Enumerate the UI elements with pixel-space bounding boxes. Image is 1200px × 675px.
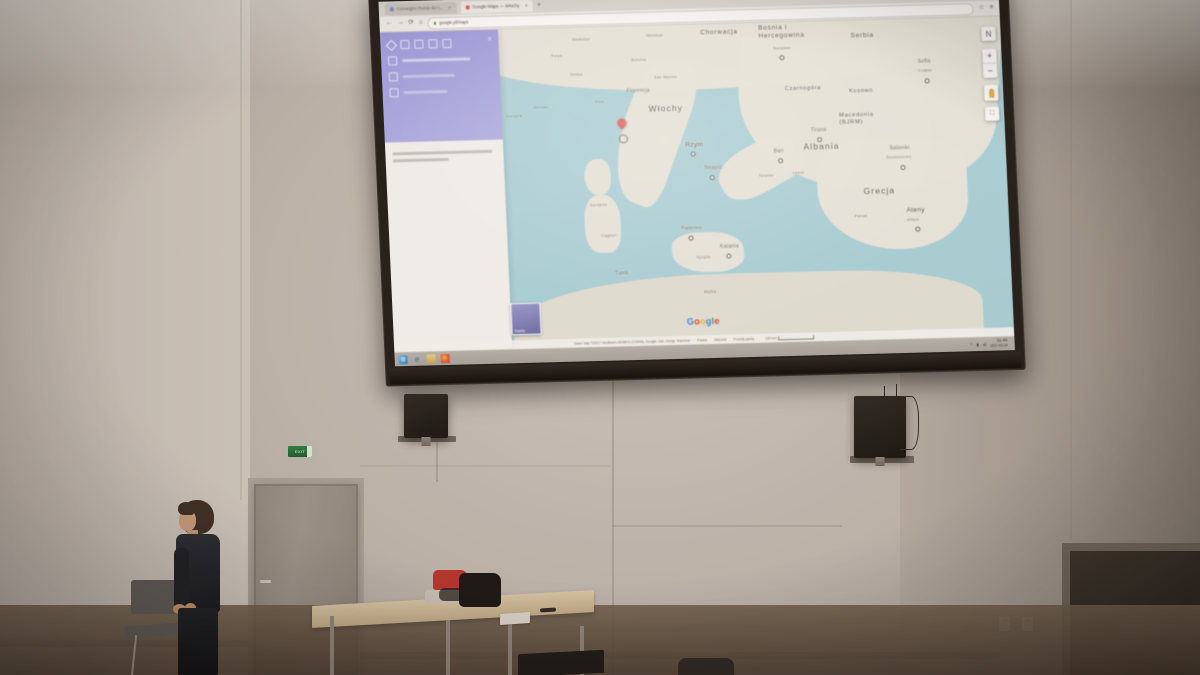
map-label-city: San Marino xyxy=(654,75,677,80)
satellite-thumbnail-label: Satelita xyxy=(514,328,525,332)
map-label-city: Monako xyxy=(533,105,548,109)
speaker-cable xyxy=(884,386,889,400)
edge-icon[interactable]: e xyxy=(412,354,421,363)
map-label-city: Mediolan xyxy=(572,37,590,41)
left-speaker xyxy=(404,394,448,438)
backpack-black-part xyxy=(459,573,501,607)
map-label-country: Chorwacja xyxy=(700,28,738,36)
table-leg xyxy=(508,622,512,675)
map-label-city: Katania xyxy=(720,243,739,249)
projected-desktop: Convegno Roma dei t... ✕ Google Maps — W… xyxy=(378,0,1014,366)
maps-panel-line-1 xyxy=(388,54,492,66)
map-label-country: Macedonia (BJRM) xyxy=(839,111,892,126)
fullscreen-button[interactable]: ⛶ xyxy=(985,107,1000,121)
city-dot xyxy=(778,158,783,163)
presenter xyxy=(168,500,230,675)
wall-joint-3 xyxy=(1070,0,1072,540)
notebook xyxy=(500,612,530,625)
city-dot xyxy=(817,137,822,142)
speaker-cable xyxy=(896,384,901,400)
map-scale-label: 200 km xyxy=(765,336,776,340)
table-leg xyxy=(446,620,450,675)
volume-icon[interactable]: ◂) xyxy=(983,341,987,346)
map-label-city: Sarajewo xyxy=(773,46,791,50)
emergency-exit-sign: EXIT xyxy=(288,446,312,457)
reload-icon[interactable]: ⟳ xyxy=(408,20,414,27)
map-label-city: Cagliari xyxy=(601,234,616,238)
new-tab-button[interactable]: + xyxy=(537,1,541,8)
map-label-country: Bośnia i Hercegowina xyxy=(758,23,825,40)
map-label-country: Czarnogóra xyxy=(785,85,822,92)
close-icon[interactable]: ✕ xyxy=(487,36,492,43)
maps-panel-note xyxy=(392,150,497,167)
map-label-city: Florencja xyxy=(627,88,651,95)
compass-button[interactable]: N xyxy=(981,27,996,41)
firefox-icon[interactable]: ◉ xyxy=(440,353,449,362)
city-dot xyxy=(924,78,929,83)
star-icon[interactable]: ☆ xyxy=(979,5,985,12)
city-dot xyxy=(900,165,905,170)
file-explorer-icon[interactable]: ▤ xyxy=(426,354,435,363)
map-label-country: Grecja xyxy=(863,185,895,196)
map-label-city: Ateny xyxy=(906,206,925,213)
map-label-city: Marsylia xyxy=(506,114,523,118)
land-corsica xyxy=(584,159,612,196)
tab-favicon xyxy=(465,5,469,9)
map-label-city: Tunis xyxy=(615,270,629,276)
browser-tab-1-label: Convegno Roma dei t... xyxy=(397,5,443,11)
chair-leg xyxy=(131,635,137,675)
map-label-city: Lecce xyxy=(793,171,805,175)
projection-screen: Convegno Roma dei t... ✕ Google Maps — W… xyxy=(368,0,1026,387)
city-dot xyxy=(688,236,693,241)
map-label-city: Tirana xyxy=(811,127,827,133)
menu-icon[interactable]: ≡ xyxy=(989,5,993,12)
clock-date: 2017-03-24 xyxy=(990,343,1008,347)
city-dot xyxy=(710,175,715,180)
presenter-arm xyxy=(174,548,189,610)
logo-e: e xyxy=(714,316,720,326)
map-label-city: Bari xyxy=(774,148,784,154)
directions-icon xyxy=(389,72,398,81)
map-label-country: Malta xyxy=(704,289,716,294)
presenter-hair-front xyxy=(178,502,194,515)
map-scale: 200 km xyxy=(765,335,814,340)
address-bar-value: google.pl/maps xyxy=(439,19,468,25)
maps-search-card[interactable]: ✕ xyxy=(380,30,503,143)
table-leg xyxy=(330,616,334,675)
lecture-room: Convegno Roma dei t... ✕ Google Maps — W… xyxy=(0,0,1200,675)
exit-sign-label: EXIT xyxy=(295,449,305,454)
network-icon[interactable]: ▮ xyxy=(976,342,979,347)
map-label-country: Kosowo xyxy=(849,88,873,95)
maps-side-panel[interactable]: ✕ xyxy=(380,30,512,353)
close-icon[interactable]: ✕ xyxy=(448,5,452,10)
map-label-region: Sardynia xyxy=(590,203,608,207)
map-label-city: Bolonia xyxy=(631,58,646,62)
layers-icon xyxy=(414,40,423,49)
map-label-city: Genua xyxy=(570,72,583,76)
compass-icon: N xyxy=(985,29,991,38)
maps-panel-line-3 xyxy=(389,86,493,98)
lock-icon: ▮ xyxy=(434,20,437,25)
map-label-city: Turyn xyxy=(551,54,562,58)
map-label-city: Neapol xyxy=(704,165,722,171)
backpack-shadow xyxy=(439,588,465,601)
google-logo: Google xyxy=(687,316,720,327)
street-view-pegman[interactable] xyxy=(984,85,999,101)
city-dot xyxy=(726,254,731,259)
map-label-city: Palermo xyxy=(681,225,702,232)
city-dot xyxy=(691,151,696,156)
laptop xyxy=(518,650,604,675)
door-handle[interactable] xyxy=(260,580,271,583)
right-speaker xyxy=(854,396,906,458)
map-label-country: Serbia xyxy=(850,32,874,40)
start-button[interactable]: ⊞ xyxy=(398,355,407,364)
forward-icon[interactable]: → xyxy=(397,20,404,27)
city-dot xyxy=(915,227,920,232)
wall-seam-1 xyxy=(612,525,842,527)
map-label-city: Taranto xyxy=(759,173,774,177)
presenter-legs xyxy=(178,608,218,675)
speaker-cable xyxy=(900,396,919,450)
browser-tab-1[interactable]: Convegno Roma dei t... ✕ xyxy=(385,1,457,15)
maps-card-icon-row xyxy=(387,38,491,50)
home-icon[interactable]: ⌂ xyxy=(419,20,423,27)
wall-conduit xyxy=(436,442,438,482)
diamond-icon xyxy=(386,39,397,50)
backpack xyxy=(425,570,503,612)
land-sicily xyxy=(671,231,745,273)
zoom-out-button[interactable]: − xyxy=(983,64,998,78)
transit-icon xyxy=(442,39,451,48)
wall-seam-2 xyxy=(360,465,610,467)
tab-favicon xyxy=(390,7,394,11)
map-label-city: Sofia xyxy=(918,58,931,64)
back-icon[interactable]: ← xyxy=(385,21,392,28)
location-pin[interactable] xyxy=(617,118,627,131)
map-label-city: Saloniki xyxy=(889,145,909,152)
google-maps-app[interactable]: ✕ xyxy=(380,16,1014,352)
footer-link-terms[interactable]: Warunki xyxy=(714,337,726,341)
footer-link-feedback[interactable]: Prześlij opinię xyxy=(733,336,754,341)
wall-joint-2 xyxy=(240,0,242,500)
satellite-thumbnail[interactable]: Satelita xyxy=(510,303,541,336)
taskbar-clock[interactable]: 11:44 2017-03-24 xyxy=(990,338,1008,348)
map-label-city: Piza xyxy=(595,100,604,104)
close-icon[interactable]: ✕ xyxy=(524,3,528,8)
map-label-city: Patras xyxy=(855,214,868,218)
system-tray[interactable]: ^ ▮ ◂) 11:44 2017-03-24 xyxy=(970,338,1011,349)
clock-time: 11:44 xyxy=(997,337,1008,342)
map-label-region: Sycylia xyxy=(696,255,710,259)
map-label-city-native: Αθήνα xyxy=(907,218,920,222)
browser-tab-2-label: Google Maps — Włochy xyxy=(472,3,520,9)
show-hidden-icons-icon[interactable]: ^ xyxy=(970,342,972,347)
traffic-icon xyxy=(428,39,437,48)
map-label-city-native: Θεσσαλονίκη xyxy=(886,155,912,160)
map-label-city-native: София xyxy=(918,68,932,72)
browser-tab-2[interactable]: Google Maps — Włochy ✕ xyxy=(460,0,533,13)
zoom-controls[interactable]: + − xyxy=(982,49,997,78)
footer-link-region[interactable]: Polska xyxy=(697,338,707,342)
map-label-country: Albania xyxy=(803,141,840,152)
map-label-city: Wenecja xyxy=(646,33,663,37)
zoom-in-button[interactable]: + xyxy=(982,49,997,64)
grid-icon xyxy=(400,40,409,49)
chair-foreground xyxy=(678,658,734,675)
fullscreen-icon: ⛶ xyxy=(990,110,995,117)
map-label-city: Rzym xyxy=(685,141,703,148)
search-icon xyxy=(388,56,397,65)
map-label-country: Włochy xyxy=(648,103,683,114)
city-dot xyxy=(779,55,784,60)
nearby-icon xyxy=(389,88,398,97)
maps-panel-line-2 xyxy=(389,70,493,82)
